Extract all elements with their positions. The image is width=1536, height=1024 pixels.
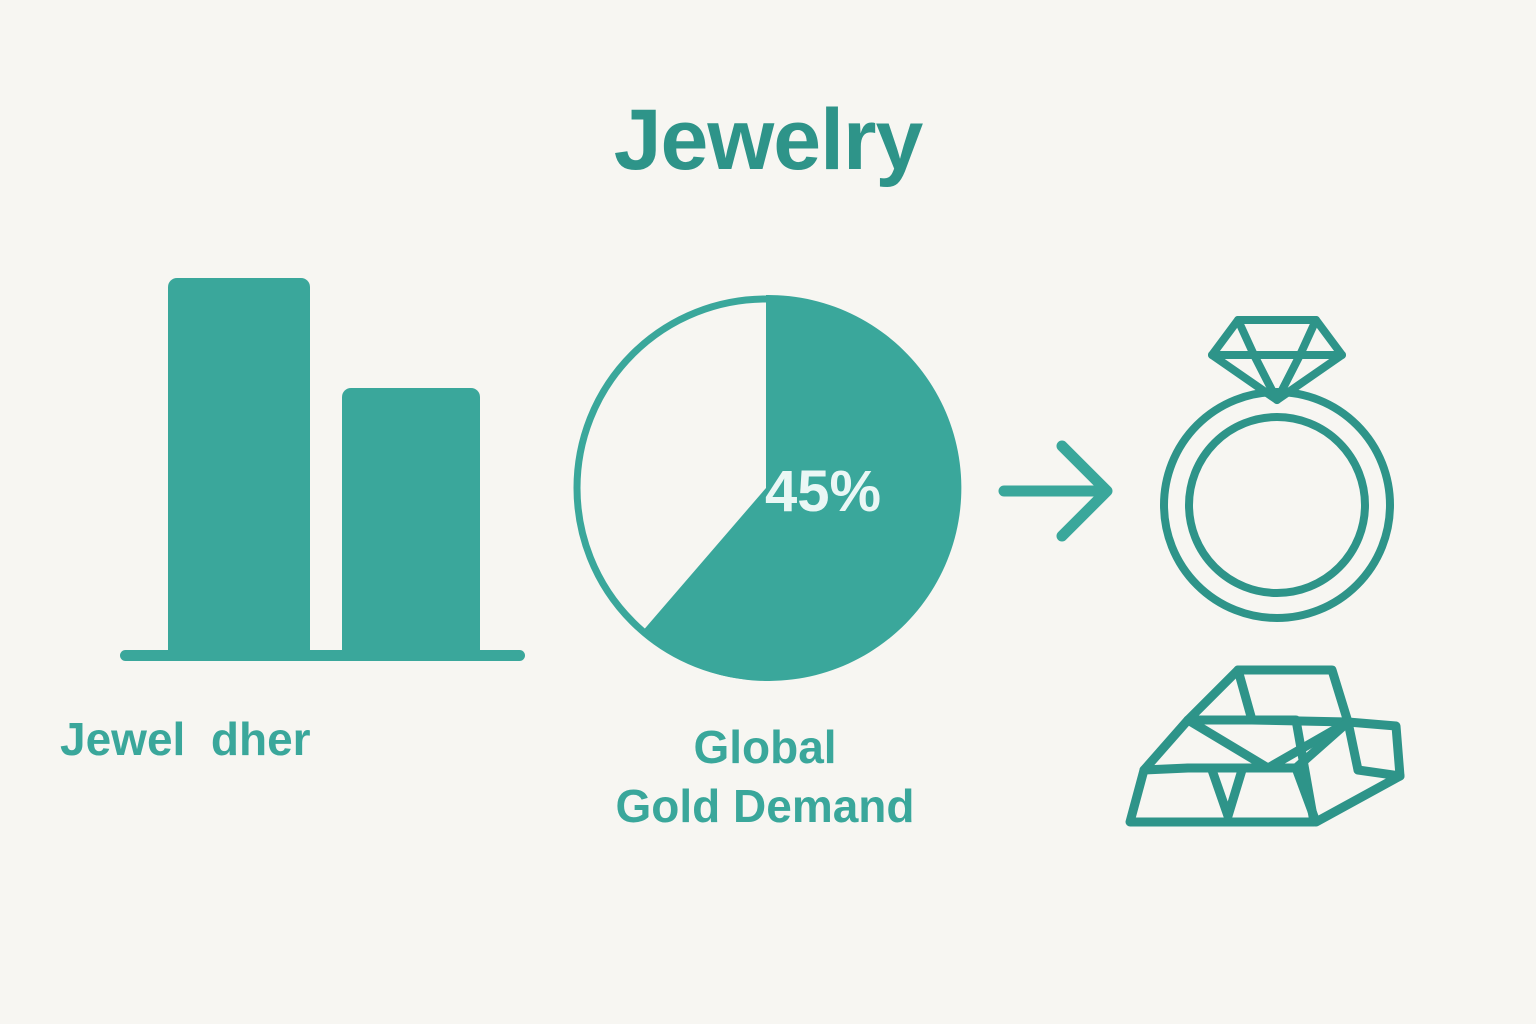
diamond-ring-icon (1150, 300, 1410, 630)
pie-chart-caption: Global Gold Demand (480, 718, 1050, 836)
pie-chart-caption-line-2: Gold Demand (480, 777, 1050, 836)
bar-chart-bar-1 (168, 278, 310, 658)
bar-chart (110, 260, 540, 670)
pie-chart-caption-line-1: Global (480, 718, 1050, 777)
gold-bar-top-edge (1238, 670, 1252, 720)
ring-gem-facet-right (1300, 320, 1316, 355)
page-title: Jewelry (0, 95, 1536, 185)
arrow-right-svg (990, 420, 1130, 565)
bar-chart-baseline (120, 650, 525, 661)
gold-bars-icon (1100, 630, 1430, 860)
gold-bar-bottom-right-front (1358, 770, 1400, 776)
diamond-ring-svg (1150, 300, 1410, 630)
ring-band-outer (1164, 392, 1390, 618)
gold-bars-svg (1100, 630, 1430, 860)
ring-band-inner (1189, 417, 1365, 593)
gold-bar-notch (1212, 770, 1242, 816)
pie-chart-percent-label: 45% (765, 458, 965, 525)
ring-gem-facet-left (1238, 320, 1254, 355)
gold-bar-bottom-right-edge (1348, 722, 1358, 770)
arrow-right-icon (990, 420, 1130, 565)
infographic-canvas: Jewelry Jewel dher 45% Global Gold Deman… (0, 0, 1536, 1024)
bar-chart-bar-2 (342, 388, 480, 658)
gold-bar-bottom-left-side (1144, 768, 1188, 770)
